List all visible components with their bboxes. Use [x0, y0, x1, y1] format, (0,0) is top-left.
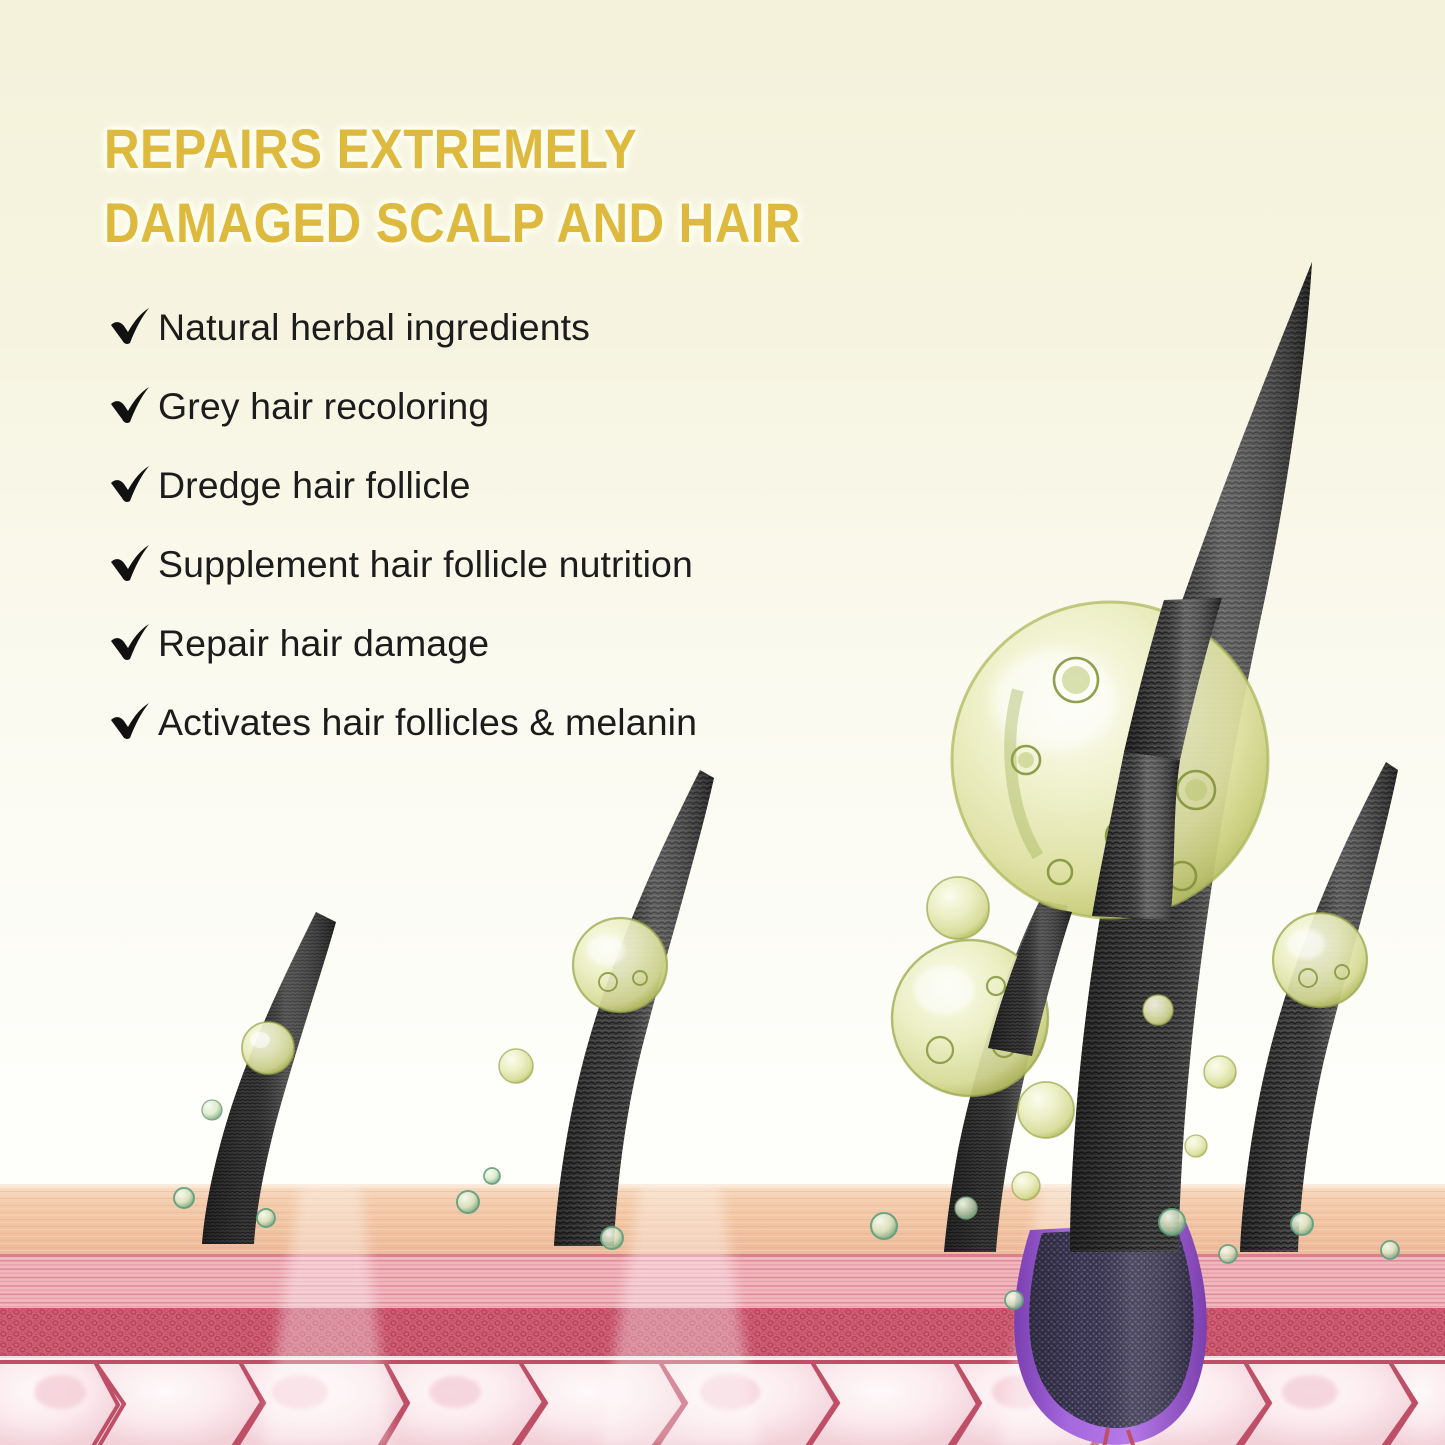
- headline-line-1: REPAIRS EXTREMELY: [104, 117, 637, 180]
- benefits-list: Natural herbal ingredients Grey hair rec…: [108, 288, 928, 762]
- serum-bubble-left-hair: [242, 1022, 294, 1074]
- check-icon: [108, 621, 154, 663]
- hair-follicle-root: [1014, 1222, 1207, 1445]
- headline-line-2: DAMAGED SCALP AND HAIR: [104, 186, 861, 260]
- product-infographic: REPAIRS EXTREMELY DAMAGED SCALP AND HAIR…: [0, 0, 1445, 1445]
- list-item: Dredge hair follicle: [108, 446, 928, 525]
- list-item: Supplement hair follicle nutrition: [108, 525, 928, 604]
- list-item-label: Activates hair follicles & melanin: [158, 701, 697, 744]
- list-item-label: Natural herbal ingredients: [158, 306, 590, 349]
- check-icon: [108, 542, 154, 584]
- serum-bubble-mid-hair: [573, 918, 667, 1012]
- page-title: REPAIRS EXTREMELY DAMAGED SCALP AND HAIR: [104, 112, 861, 260]
- list-item: Repair hair damage: [108, 604, 928, 683]
- check-icon: [108, 463, 154, 505]
- serum-bubble-right-hair: [1273, 913, 1367, 1007]
- list-item: Activates hair follicles & melanin: [108, 683, 928, 762]
- list-item-label: Supplement hair follicle nutrition: [158, 543, 693, 586]
- list-item-label: Repair hair damage: [158, 622, 489, 665]
- check-icon: [108, 384, 154, 426]
- list-item-label: Dredge hair follicle: [158, 464, 471, 507]
- check-icon: [108, 305, 154, 347]
- list-item: Natural herbal ingredients: [108, 288, 928, 367]
- check-icon: [108, 700, 154, 742]
- list-item: Grey hair recoloring: [108, 367, 928, 446]
- list-item-label: Grey hair recoloring: [158, 385, 489, 428]
